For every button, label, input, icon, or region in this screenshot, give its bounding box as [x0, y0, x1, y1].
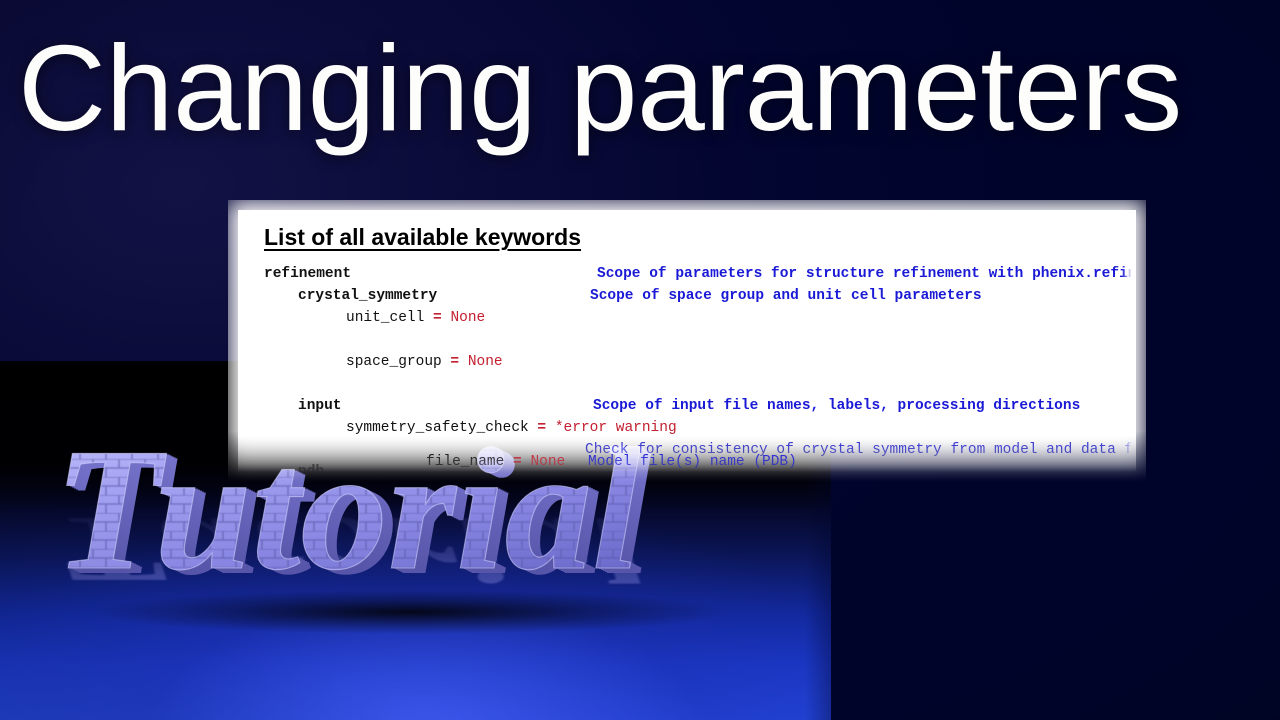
keyword-row: inputScope of input file names, labels, …: [238, 398, 1136, 420]
keyword-row: unit_cell = None: [238, 310, 1136, 332]
keyword-description: Scope of space group and unit cell param…: [590, 288, 982, 304]
keyword-value: *error warning: [555, 420, 677, 436]
keyword-value: None: [530, 454, 565, 470]
keyword-name: refinement: [264, 266, 351, 282]
keyword-row: symmetry_safety_check = *error warning: [238, 420, 1136, 442]
slide-root: Tutorial: [0, 0, 1280, 720]
keyword-description: Scope of parameters for structure refine…: [597, 266, 1136, 282]
keyword-description: Model file(s) name (PDB): [588, 454, 797, 470]
keyword-row: [238, 332, 1136, 354]
keyword-row: crystal_symmetryScope of space group and…: [238, 288, 1136, 310]
keyword-row: space_group = None: [238, 354, 1136, 376]
keyword-name: symmetry_safety_check = *error warning: [346, 420, 677, 436]
keyword-description: Scope of input file names, labels, proce…: [593, 398, 1080, 414]
keyword-equals: =: [529, 420, 555, 436]
keyword-equals: =: [504, 454, 530, 470]
keyword-bleed-row: file_name = NoneModel file(s) name (PDB): [238, 454, 1136, 480]
keyword-name: crystal_symmetry: [298, 288, 437, 304]
keyword-row: [238, 376, 1136, 398]
keyword-value: None: [468, 354, 503, 370]
page-title: Changing parameters: [18, 27, 1268, 149]
keyword-name: unit_cell = None: [346, 310, 485, 326]
keywords-panel: List of all available keywords refinemen…: [238, 210, 1136, 472]
panel-heading: List of all available keywords: [264, 224, 581, 251]
keyword-value: None: [450, 310, 485, 326]
keyword-name: input: [298, 398, 342, 414]
keyword-name: space_group = None: [346, 354, 503, 370]
keyword-equals: =: [424, 310, 450, 326]
keyword-row: refinementScope of parameters for struct…: [238, 266, 1136, 288]
keyword-name: file_name = None: [426, 454, 565, 470]
keyword-equals: =: [442, 354, 468, 370]
keyword-list: refinementScope of parameters for struct…: [238, 266, 1136, 472]
panel-surface: List of all available keywords refinemen…: [238, 210, 1136, 472]
